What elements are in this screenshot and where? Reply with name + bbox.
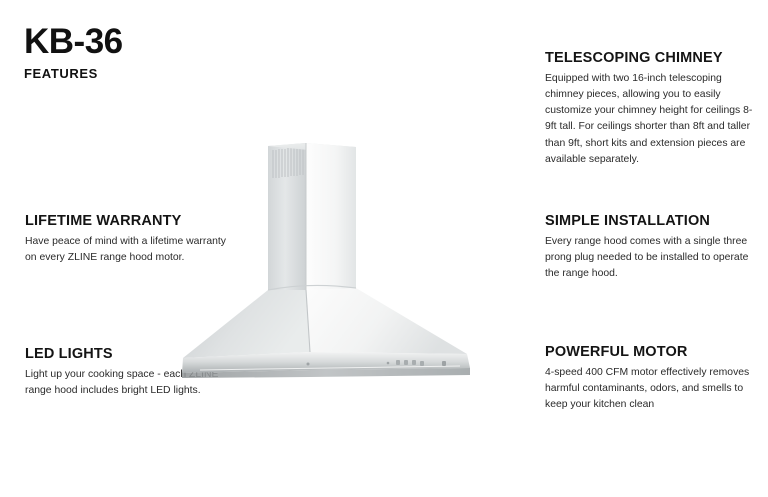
control-button bbox=[404, 360, 408, 365]
rim-fastener bbox=[307, 363, 310, 366]
feature-powerful-motor: POWERFUL MOTOR 4-speed 400 CFM motor eff… bbox=[545, 344, 760, 413]
range-hood-illustration bbox=[160, 130, 490, 395]
title-block: KB-36 FEATURES bbox=[24, 24, 123, 81]
feature-simple-installation: SIMPLE INSTALLATION Every range hood com… bbox=[545, 213, 760, 282]
control-button bbox=[396, 360, 400, 365]
feature-body: 4-speed 400 CFM motor effectively remove… bbox=[545, 365, 760, 413]
feature-body: Equipped with two 16-inch telescoping ch… bbox=[545, 71, 760, 168]
control-button bbox=[442, 361, 446, 366]
canopy-left-panel bbox=[183, 290, 310, 358]
feature-body: Every range hood comes with a single thr… bbox=[545, 234, 760, 282]
chimney-left-face bbox=[268, 143, 306, 290]
feature-sheet-page: KB-36 FEATURES TELESCOPING CHIMNEY Equip… bbox=[0, 0, 768, 497]
control-button bbox=[420, 361, 424, 366]
feature-title: SIMPLE INSTALLATION bbox=[545, 213, 760, 229]
rim-fastener bbox=[387, 362, 390, 365]
control-button bbox=[412, 360, 416, 365]
feature-title: POWERFUL MOTOR bbox=[545, 344, 760, 360]
page-title: KB-36 bbox=[24, 24, 123, 59]
feature-telescoping-chimney: TELESCOPING CHIMNEY Equipped with two 16… bbox=[545, 50, 760, 168]
feature-title: TELESCOPING CHIMNEY bbox=[545, 50, 760, 66]
canopy-right-panel bbox=[306, 288, 467, 354]
chimney-right-face bbox=[306, 143, 356, 290]
features-subtitle: FEATURES bbox=[24, 66, 123, 81]
